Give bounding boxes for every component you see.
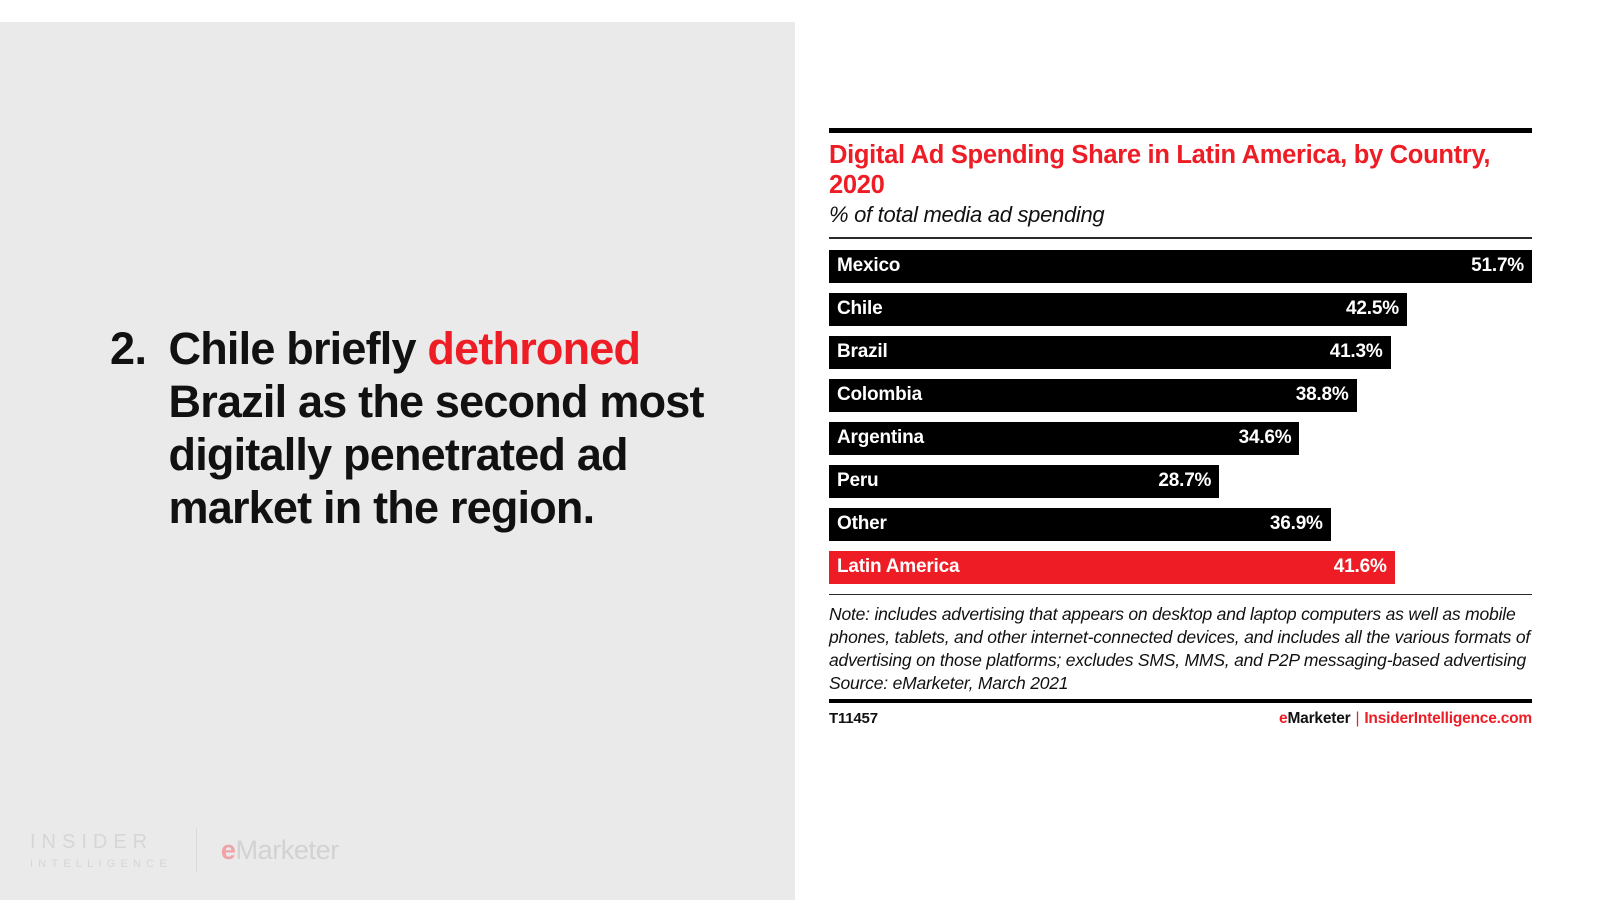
headline-text: Chile briefly dethroned Brazil as the se…: [169, 322, 750, 534]
headline-number: 2.: [110, 322, 147, 375]
chart-note-block: Note: includes advertising that appears …: [829, 595, 1532, 695]
bar-peru[interactable]: Peru 28.7%: [829, 465, 1219, 498]
bar-row: Argentina 34.6%: [829, 422, 1532, 455]
chart-top-rule: [829, 128, 1532, 133]
headline-highlight: dethroned: [427, 323, 640, 374]
bar-label: Colombia: [837, 384, 922, 406]
emarketer-wordmark: eMarketer: [221, 835, 339, 866]
emarketer-logo-rest: Marketer: [236, 835, 339, 865]
bar-row: Mexico 51.7%: [829, 250, 1532, 283]
bar-label: Latin America: [837, 556, 959, 578]
headline-block: 2. Chile briefly dethroned Brazil as the…: [110, 322, 750, 534]
footer-brand-rest: Marketer: [1287, 710, 1350, 727]
insider-logo-bottom: INTELLIGENCE: [30, 858, 172, 870]
chart-note-text: Note: includes advertising that appears …: [829, 603, 1532, 672]
bar-mexico[interactable]: Mexico 51.7%: [829, 250, 1532, 283]
bar-row: Other 36.9%: [829, 508, 1532, 541]
bar-label: Chile: [837, 298, 882, 320]
logo-divider: [196, 828, 197, 872]
bar-label: Argentina: [837, 427, 924, 449]
bar-value: 41.3%: [1330, 341, 1383, 363]
bar-latin-america[interactable]: Latin America 41.6%: [829, 551, 1395, 584]
bar-row: Chile 42.5%: [829, 293, 1532, 326]
insider-intelligence-logo: INSIDER INTELLIGENCE eMarketer: [30, 828, 339, 872]
chart-title: Digital Ad Spending Share in Latin Ameri…: [829, 141, 1532, 200]
bar-chile[interactable]: Chile 42.5%: [829, 293, 1407, 326]
bar-label: Mexico: [837, 255, 900, 277]
insider-wordmark: INSIDER INTELLIGENCE: [30, 831, 172, 870]
chart-subtitle: % of total media ad spending: [829, 202, 1532, 228]
headline-part1: Chile briefly: [169, 323, 428, 374]
bar-colombia[interactable]: Colombia 38.8%: [829, 379, 1357, 412]
bar-argentina[interactable]: Argentina 34.6%: [829, 422, 1299, 455]
bar-other[interactable]: Other 36.9%: [829, 508, 1331, 541]
emarketer-logo-e: e: [221, 835, 236, 865]
bar-value: 28.7%: [1158, 470, 1211, 492]
insider-logo-top: INSIDER: [30, 831, 172, 854]
bar-value: 36.9%: [1270, 513, 1323, 535]
left-gray-panel: 2. Chile briefly dethroned Brazil as the…: [0, 22, 795, 900]
bar-row: Brazil 41.3%: [829, 336, 1532, 369]
bar-value: 38.8%: [1296, 384, 1349, 406]
bar-label: Brazil: [837, 341, 888, 363]
bar-brazil[interactable]: Brazil 41.3%: [829, 336, 1391, 369]
footer-site-link[interactable]: InsiderIntelligence.com: [1364, 710, 1532, 727]
bar-value: 41.6%: [1334, 556, 1387, 578]
bar-label: Peru: [837, 470, 878, 492]
chart-card: Digital Ad Spending Share in Latin Ameri…: [829, 128, 1532, 728]
footer-brand[interactable]: eMarketer|InsiderIntelligence.com: [1279, 710, 1532, 728]
bar-value: 42.5%: [1346, 298, 1399, 320]
bar-value: 51.7%: [1471, 255, 1524, 277]
footer-separator: |: [1356, 710, 1360, 727]
chart-source-text: Source: eMarketer, March 2021: [829, 672, 1532, 695]
bar-label: Other: [837, 513, 887, 535]
bar-chart: Mexico 51.7% Chile 42.5% Brazil 41.3% Co…: [829, 239, 1532, 584]
bar-row: Peru 28.7%: [829, 465, 1532, 498]
headline-part2: Brazil as the second most digitally pene…: [169, 376, 704, 533]
chart-footer: T11457 eMarketer|InsiderIntelligence.com: [829, 703, 1532, 728]
bar-value: 34.6%: [1239, 427, 1292, 449]
bar-row: Colombia 38.8%: [829, 379, 1532, 412]
bar-row: Latin America 41.6%: [829, 551, 1532, 584]
chart-id: T11457: [829, 710, 878, 727]
